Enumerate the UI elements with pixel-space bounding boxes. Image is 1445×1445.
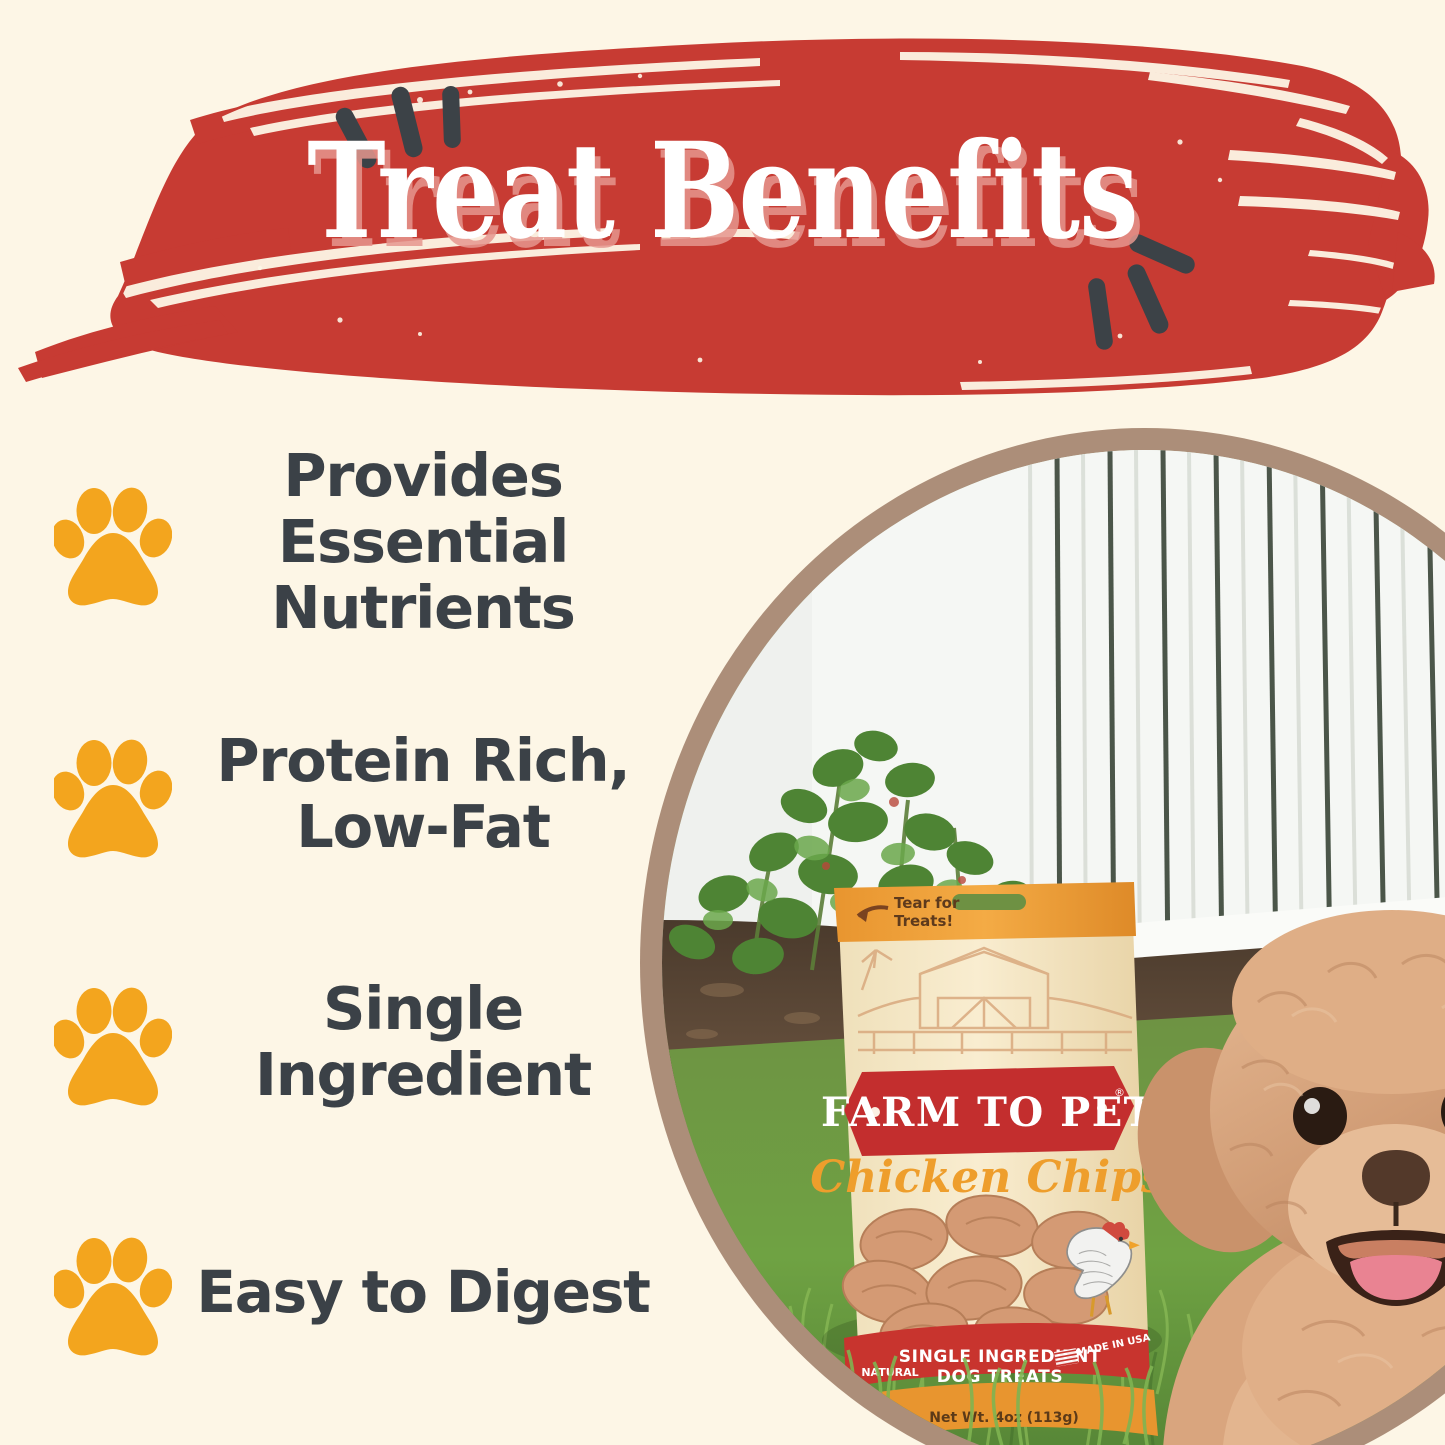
paw-icon [54,1228,172,1356]
benefit-item: Provides Essential Nutrients [0,452,700,632]
benefit-item: Easy to Digest [0,1212,700,1372]
bag-tear-line2: Treats! [894,912,953,930]
benefit-label: Easy to Digest [172,1260,700,1325]
svg-text:®: ® [1114,1086,1125,1099]
photo-illustration: Tear for Treats! [662,450,1445,1445]
bag-tear-line1: Tear for [894,894,960,912]
paw-icon [54,478,172,606]
paw-icon [54,730,172,858]
brand-tag: FARM TO PET ® [821,1066,1155,1156]
product-photo-frame: Tear for Treats! [640,428,1445,1445]
benefit-label: Single Ingredient [172,976,700,1108]
paw-icon [54,978,172,1106]
bag-brand: FARM TO PET [821,1089,1155,1136]
benefit-item: Single Ingredient [0,952,700,1132]
benefit-label: Provides Essential Nutrients [172,443,700,641]
page-title: Treat Benefits [145,126,1301,258]
product-photo: Tear for Treats! [662,450,1445,1445]
benefit-label: Protein Rich, Low-Fat [172,728,700,860]
header-banner: Treat Benefits [0,0,1445,410]
bag-net-weight: Net Wt. 4oz (113g) [929,1410,1079,1426]
benefit-item: Protein Rich, Low-Fat [0,704,700,884]
benefits-list: Provides Essential Nutrients Protein Ric… [0,452,700,1382]
poster-canvas: Treat Benefits Provides Essential Nutrie… [0,0,1445,1445]
product-bag: Tear for Treats! [810,882,1166,1442]
